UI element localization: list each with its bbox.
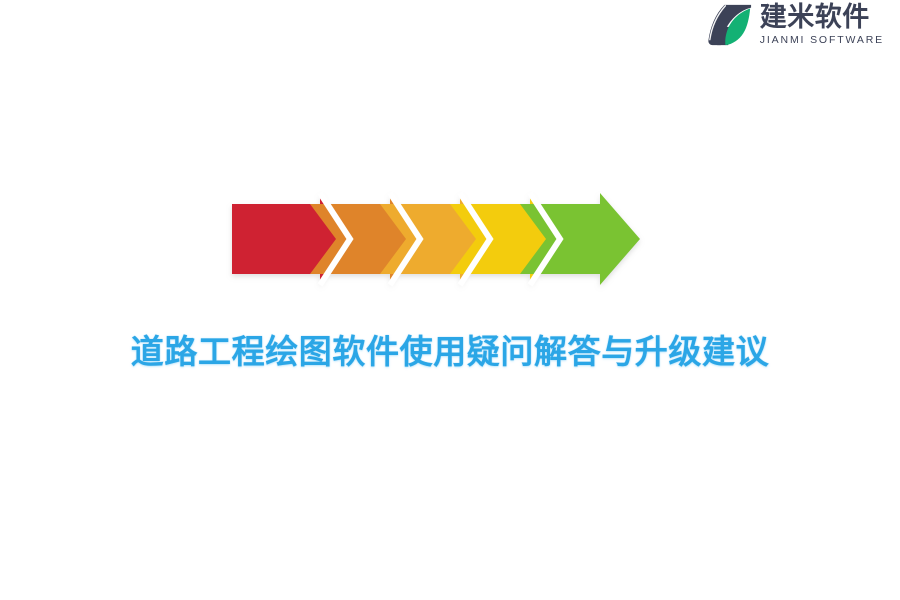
brand-text-block: 建米软件 JIANMI SOFTWARE: [760, 4, 884, 46]
brand-name-cn: 建米软件: [760, 4, 884, 32]
slide-canvas: 建米软件 JIANMI SOFTWARE: [0, 0, 900, 600]
process-arrow-graphic: [222, 186, 652, 292]
page-title: 道路工程绘图软件使用疑问解答与升级建议: [0, 331, 900, 372]
chevron-arrow-svg: [222, 186, 652, 292]
jianmi-hexagon-leaf-icon: [707, 3, 753, 47]
brand-name-en: JIANMI SOFTWARE: [760, 35, 884, 46]
brand-logo: 建米软件 JIANMI SOFTWARE: [707, 2, 884, 48]
